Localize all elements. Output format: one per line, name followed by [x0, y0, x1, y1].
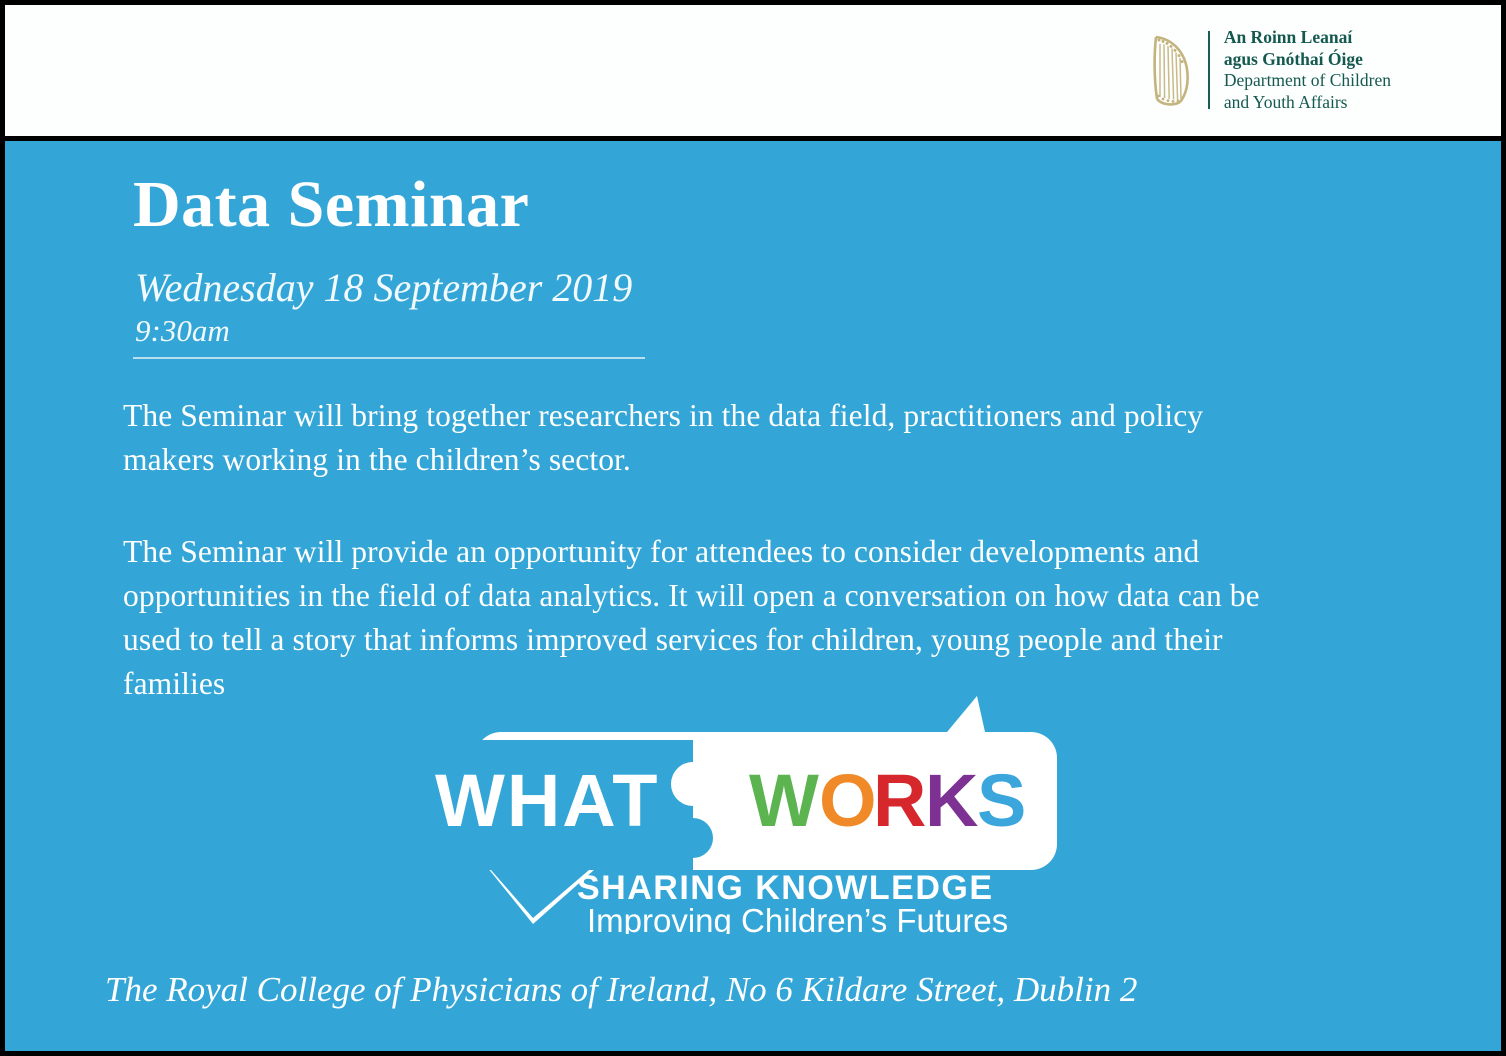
department-name-irish-line2: agus Gnóthaí Óige	[1224, 49, 1391, 71]
what-works-logo: WHAT W O R K S SHARING KNOWLEDGE Improvi…	[387, 694, 1067, 934]
logo-tagline-secondary: Improving Children’s Futures	[587, 902, 1008, 934]
department-name-irish-line1: An Roinn Leanaí	[1224, 27, 1391, 49]
logo-letter-w: W	[749, 759, 820, 842]
page-title: Data Seminar	[133, 169, 529, 241]
department-name: An Roinn Leanaí agus Gnóthaí Óige Depart…	[1224, 27, 1391, 113]
department-name-english-line1: Department of Children	[1224, 70, 1391, 92]
venue-address: The Royal College of Physicians of Irela…	[105, 969, 1137, 1011]
logo-word-what: WHAT	[435, 759, 659, 842]
logo-divider	[1208, 31, 1210, 109]
department-logo: An Roinn Leanaí agus Gnóthaí Óige Depart…	[1146, 27, 1391, 113]
event-date: Wednesday 18 September 2019	[135, 265, 632, 311]
logo-letter-s: S	[977, 759, 1027, 842]
paragraph-two: The Seminar will provide an opportunity …	[123, 530, 1283, 706]
paragraph-one: The Seminar will bring together research…	[123, 394, 1283, 482]
department-name-english-line2: and Youth Affairs	[1224, 92, 1391, 114]
event-time: 9:30am	[135, 313, 230, 349]
irish-harp-icon	[1146, 29, 1194, 111]
poster-page: An Roinn Leanaí agus Gnóthaí Óige Depart…	[0, 0, 1506, 1056]
header-divider-rule	[133, 357, 645, 359]
poster-body: Data Seminar Wednesday 18 September 2019…	[5, 141, 1501, 1051]
logo-letter-r: R	[873, 759, 927, 842]
logo-letter-k: K	[925, 759, 979, 842]
logo-letter-o: O	[819, 759, 878, 842]
header-band: An Roinn Leanaí agus Gnóthaí Óige Depart…	[5, 5, 1501, 141]
